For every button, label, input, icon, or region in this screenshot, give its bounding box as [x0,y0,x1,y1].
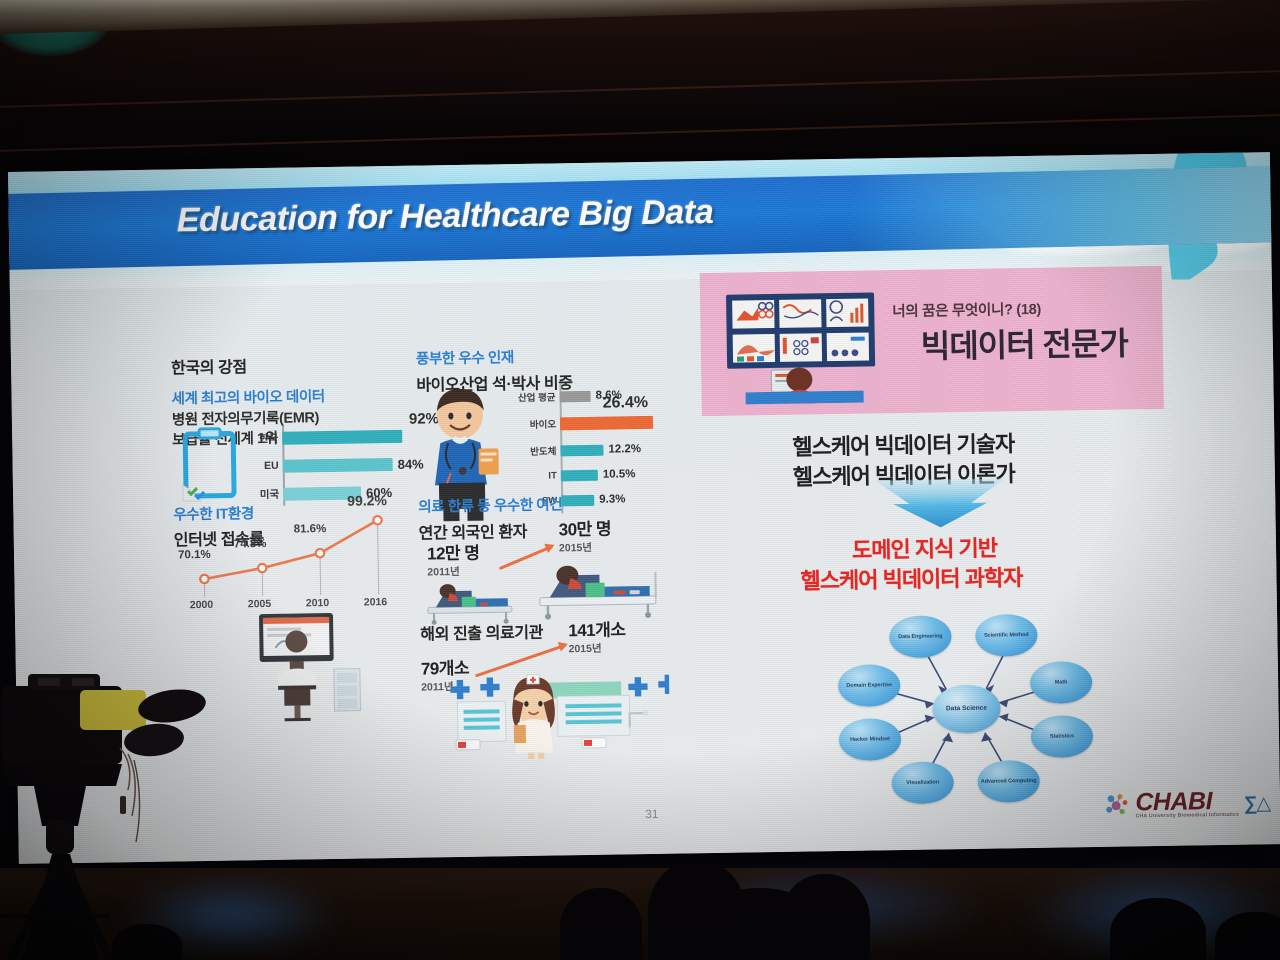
emr-bar-row: EU 84% [250,451,430,478]
bio-category-label: IT [511,470,557,482]
emr-bar-row: 한국 92% [250,423,430,450]
bio-category-label: 반도체 [510,443,556,458]
medical-heading: 의료 한류 등 우수한 여건 [418,492,668,517]
audience-head [560,888,642,960]
bio-value: 12.2% [608,443,641,456]
bio-category-label: 산업 평균 [509,389,555,404]
wall-line-1 [0,70,1280,108]
audience-head [700,888,820,960]
emr-category-label: EU [251,460,279,472]
patients-to-value: 30만 명 [558,515,611,541]
ceiling-strip [0,0,1280,34]
bio-value: 10.5% [603,468,636,481]
emr-bar [283,457,393,472]
institutions-label: 해외 진출 의료기관 [420,617,670,645]
institutions-to-year: 2015년 [568,640,625,656]
line-value-label: 99.2% [347,492,387,509]
result-line-1: 도메인 지식 기반 [852,531,997,565]
bio-bar-row: 바이오 26.4% [510,408,680,437]
chabi-wordmark: CHABI [1135,789,1239,813]
dream-answer: 빅데이터 전문가 [920,318,1128,367]
bio-bar-highlight [560,415,653,429]
monitor-wall-illustration [724,290,881,404]
chabi-logo: CHABI CHA University Biomedical Informat… [1104,782,1270,827]
foreign-patients-block: 의료 한류 등 우수한 여건 연간 외국인 환자 12만 명 2011년 30만… [418,492,670,626]
bio-value-highlight: 26.4% [603,394,649,413]
left-sub-heading: 세계 최고의 바이오 데이터 [171,384,421,409]
hospital-and-nurse-illustration [429,665,670,761]
bio-bar-row: 산업 평균 8.6% [509,383,679,408]
overseas-institutions-block: 해외 진출 의료기관 79개소 2011년 141개소 2015년 [420,617,672,761]
chabi-secondary-mark-icon: ∑△ [1244,792,1271,815]
line-value-label: 74.8% [234,538,267,551]
line-value-label: 70.1% [178,549,211,562]
emr-category-label: 한국 [250,430,278,445]
bio-bar [560,390,591,401]
bio-bar [561,469,598,481]
institutions-to-value: 141개소 [568,615,626,641]
emr-bar [282,429,402,444]
chabi-mark-icon [1104,792,1130,818]
institutions-to: 141개소 2015년 [568,615,626,656]
down-arrow-icon [875,478,1006,528]
bio-bar-row: IT 10.5% [511,462,681,487]
line-x-tick: 2016 [364,596,388,608]
internet-access-line-chart: 70.1% 74.8% 81.6% 99.2% 2000 2005 2010 2… [171,498,413,622]
data-science-diagram: Data Science Data Engineering Scientific… [815,595,1118,820]
bio-category-label: 바이오 [510,416,556,431]
bio-bar [560,444,603,456]
hospital-bed-small-icon [419,572,530,626]
photo-scene: Education for Healthcare Big Data 한국의 강점… [0,0,1280,960]
mid-heading: 풍부한 우수 인재 [416,344,676,369]
line-x-tick: 2000 [190,599,214,611]
video-camera-silhouette [0,668,224,960]
chabi-subtitle: CHA University Biomedical Informatics [1136,812,1240,820]
left-heading: 한국의 강점 [171,351,421,379]
bio-bar-row: 반도체 12.2% [510,437,680,462]
patients-from-value: 12만 명 [427,539,480,565]
page-number: 31 [645,807,659,821]
dream-pink-panel: 너의 꿈은 무엇이니? (18) 빅데이터 전문가 [700,266,1164,416]
audience-head [1110,898,1206,960]
person-at-computer-illustration [247,606,369,728]
result-line-2: 헬스케어 빅데이터 과학자 [800,560,1022,595]
wall-line-2 [0,114,1280,152]
clipboard-icon [180,426,241,503]
audience-head [112,924,182,960]
line-value-label: 81.6% [294,523,327,536]
patients-to: 30만 명 2015년 [558,515,611,556]
dream-question: 너의 꿈은 무엇이니? (18) [892,298,1041,321]
hospital-bed-large-icon [531,552,670,622]
